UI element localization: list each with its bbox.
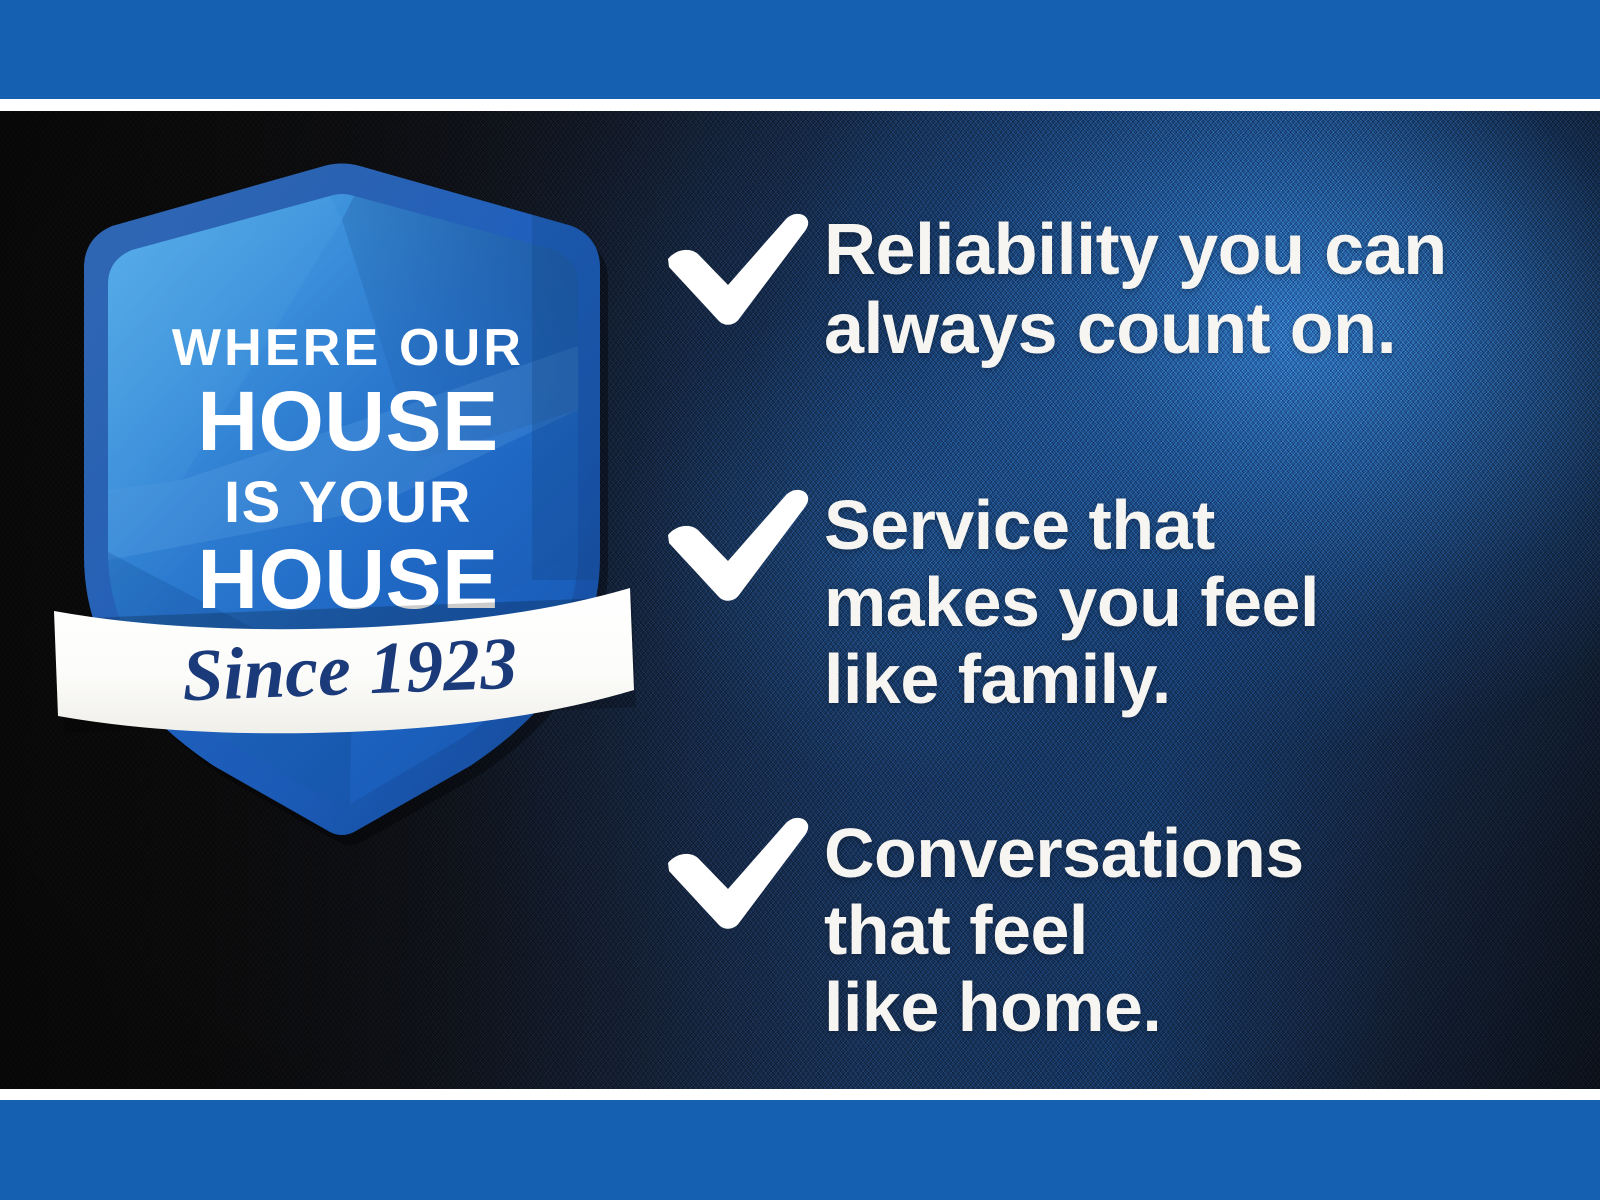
poster-canvas: WHERE OUR HOUSE IS YOUR HOUSE Since 1923… — [0, 0, 1600, 1200]
bottom-brand-bar — [0, 1100, 1600, 1200]
emblem-line-3: IS YOUR — [224, 470, 472, 535]
benefits-checklist: Reliability you can always count on. Ser… — [660, 111, 1540, 1089]
checklist-item-text: Reliability you can always count on. — [824, 207, 1540, 369]
checklist-item-text: Service that makes you feel like family. — [824, 483, 1540, 718]
shield-badge: WHERE OUR HOUSE IS YOUR HOUSE Since 1923 — [62, 160, 622, 840]
check-icon — [660, 483, 810, 613]
checklist-item: Service that makes you feel like family. — [660, 483, 1540, 718]
check-icon — [660, 811, 810, 941]
checklist-item-text: Conversations that feel like home. — [824, 811, 1540, 1046]
emblem-line-2: HOUSE — [197, 374, 498, 468]
emblem-line-1: WHERE OUR — [172, 319, 524, 377]
checklist-item: Conversations that feel like home. — [660, 811, 1540, 1046]
shield-right-rim — [532, 200, 600, 580]
check-icon — [660, 207, 810, 337]
ribbon-text: Since 1923 — [181, 623, 519, 718]
top-brand-bar — [0, 0, 1600, 99]
checklist-item: Reliability you can always count on. — [660, 207, 1540, 369]
